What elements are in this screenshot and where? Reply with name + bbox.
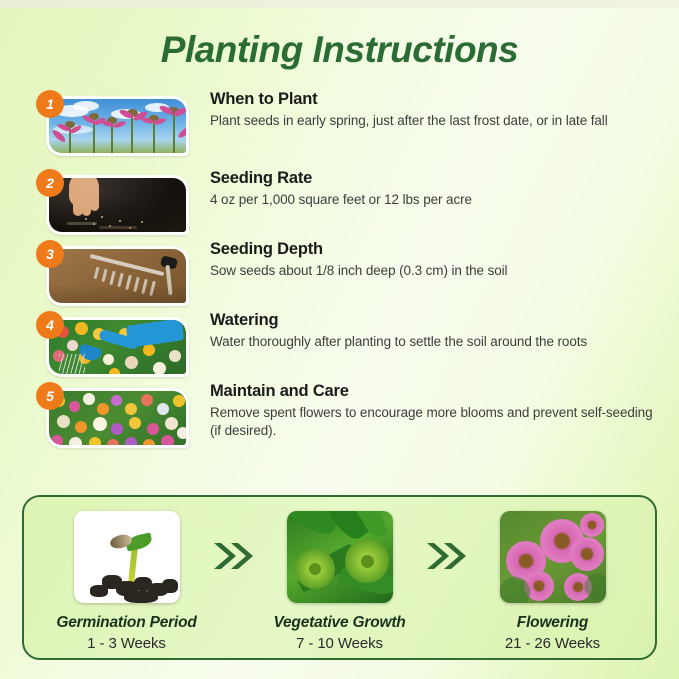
- hand-sowing-seeds-photo: [49, 178, 186, 232]
- step-badge: 3: [36, 240, 64, 268]
- page-title: Planting Instructions: [0, 27, 679, 73]
- step-text: Watering Water thoroughly after planting…: [210, 310, 660, 351]
- watering-can-flowers-photo: [49, 320, 186, 374]
- step-description: 4 oz per 1,000 square feet or 12 lbs per…: [210, 191, 660, 209]
- step-text: Seeding Depth Sow seeds about 1/8 inch d…: [210, 239, 660, 280]
- double-chevron-right-icon: [418, 511, 474, 571]
- growth-timeline-panel: Germination Period 1 - 3 Weeks: [22, 495, 657, 660]
- step-title: When to Plant: [210, 89, 660, 110]
- timeline-stage-flowering: Flowering 21 - 26 Weeks: [474, 511, 631, 652]
- step-thumbnail-frame: [46, 246, 189, 306]
- step-thumbnail-frame: [46, 96, 189, 156]
- step-description: Plant seeds in early spring, just after …: [210, 112, 660, 130]
- step-description: Water thoroughly after planting to settl…: [210, 333, 660, 351]
- step-title: Seeding Rate: [210, 168, 660, 189]
- step-text: Maintain and Care Remove spent flowers t…: [210, 381, 660, 440]
- timeline-stage-name: Germination Period: [48, 614, 205, 632]
- double-chevron-right-icon: [205, 511, 261, 571]
- planting-instructions-infographic: Planting Instructions: [0, 0, 679, 679]
- pink-coneflower-blooms-photo: [500, 511, 606, 603]
- timeline-stage-duration: 21 - 26 Weeks: [474, 635, 631, 652]
- timeline-stage-duration: 1 - 3 Weeks: [48, 635, 205, 652]
- step-description: Remove spent flowers to encourage more b…: [210, 404, 660, 440]
- step-badge: 2: [36, 169, 64, 197]
- timeline-stage-duration: 7 - 10 Weeks: [261, 635, 418, 652]
- step-title: Watering: [210, 310, 660, 331]
- step-description: Sow seeds about 1/8 inch deep (0.3 cm) i…: [210, 262, 660, 280]
- mixed-wildflowers-photo: [49, 391, 186, 445]
- list-item: 3 Seeding Depth Sow seeds about 1/8 inch…: [0, 238, 679, 308]
- step-thumbnail-frame: [46, 388, 189, 448]
- rake-on-soil-photo: [49, 249, 186, 303]
- list-item: 1 When to Plant Plant seeds in early spr…: [0, 88, 679, 166]
- step-badge: 1: [36, 90, 64, 118]
- timeline-stage-name: Vegetative Growth: [261, 614, 418, 632]
- list-item: 4 Watering Water thoroughly after planti…: [0, 309, 679, 379]
- step-title: Maintain and Care: [210, 381, 660, 402]
- list-item: 2 Seeding Rate 4 oz per 1,000 square fee…: [0, 167, 679, 237]
- list-item: 5 Maintain and Care Remove spent flowers…: [0, 380, 679, 450]
- step-badge: 4: [36, 311, 64, 339]
- steps-list: 1 When to Plant Plant seeds in early spr…: [0, 88, 679, 451]
- coneflowers-sky-photo: [49, 99, 186, 153]
- timeline-stage-name: Flowering: [474, 614, 631, 632]
- step-text: Seeding Rate 4 oz per 1,000 square feet …: [210, 168, 660, 209]
- step-thumbnail-frame: [46, 175, 189, 235]
- timeline-stage-germination: Germination Period 1 - 3 Weeks: [48, 511, 205, 652]
- sprouting-seedling-photo: [74, 511, 180, 603]
- step-text: When to Plant Plant seeds in early sprin…: [210, 89, 660, 130]
- green-foliage-buds-photo: [287, 511, 393, 603]
- step-title: Seeding Depth: [210, 239, 660, 260]
- step-badge: 5: [36, 382, 64, 410]
- top-band: [0, 0, 679, 8]
- timeline-stage-vegetative: Vegetative Growth 7 - 10 Weeks: [261, 511, 418, 652]
- step-thumbnail-frame: [46, 317, 189, 377]
